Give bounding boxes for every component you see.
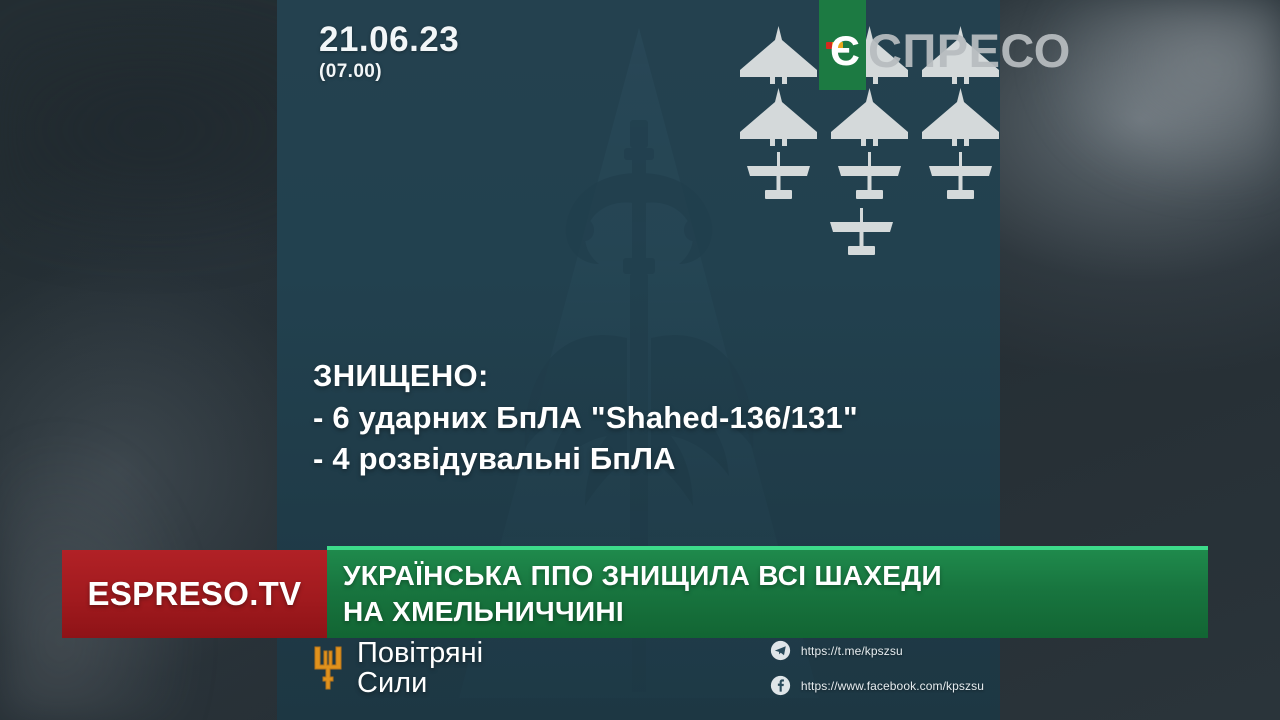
time-value: (07.00) bbox=[319, 61, 459, 83]
station-logo: Є СПРЕСО bbox=[819, 0, 1071, 90]
recon-row-2 bbox=[820, 204, 1000, 260]
screenshot-root: 21.06.23 (07.00) bbox=[0, 0, 1280, 720]
recon-drone-icon bbox=[820, 204, 903, 260]
social-link-facebook[interactable]: https://www.facebook.com/kpszsu bbox=[770, 675, 984, 696]
recon-drone-icon bbox=[737, 148, 820, 204]
air-force-branding: Повітряні Сили bbox=[313, 638, 483, 698]
telegram-icon bbox=[770, 640, 791, 661]
date-block: 21.06.23 (07.00) bbox=[319, 22, 459, 83]
recon-drone-icon bbox=[828, 148, 911, 204]
facebook-url: https://www.facebook.com/kpszsu bbox=[801, 679, 984, 693]
recon-row-1 bbox=[737, 148, 1000, 204]
date-value: 21.06.23 bbox=[319, 22, 459, 57]
social-links: https://t.me/kpszsu https://www.facebook… bbox=[770, 640, 984, 696]
shahed-drone-icon bbox=[828, 86, 911, 148]
headline-line-2: НА ХМЕЛЬНИЧЧИНІ bbox=[343, 594, 1192, 630]
social-link-telegram[interactable]: https://t.me/kpszsu bbox=[770, 640, 984, 661]
shahed-row-2 bbox=[737, 86, 1000, 148]
shahed-drone-icon bbox=[919, 86, 1000, 148]
telegram-url: https://t.me/kpszsu bbox=[801, 644, 903, 658]
logo-letter-ye: Є bbox=[830, 34, 859, 68]
destroyed-item: - 6 ударних БпЛА "Shahed-136/131" bbox=[313, 398, 858, 439]
lower-third: ESPRESO.TV УКРАЇНСЬКА ППО ЗНИЩИЛА ВСІ ША… bbox=[0, 546, 1280, 638]
shahed-drone-icon bbox=[737, 24, 820, 86]
channel-brand-text: ESPRESO.TV bbox=[88, 575, 302, 613]
headline-plate: УКРАЇНСЬКА ППО ЗНИЩИЛА ВСІ ШАХЕДИ НА ХМЕ… bbox=[327, 546, 1208, 638]
destroyed-heading: ЗНИЩЕНО: bbox=[313, 358, 858, 394]
headline-line-1: УКРАЇНСЬКА ППО ЗНИЩИЛА ВСІ ШАХЕДИ bbox=[343, 558, 1192, 594]
channel-brand-plate: ESPRESO.TV bbox=[62, 550, 327, 638]
espreso-logo-mark: Є bbox=[819, 0, 866, 90]
destroyed-summary: ЗНИЩЕНО: - 6 ударних БпЛА "Shahed-136/13… bbox=[313, 358, 858, 480]
destroyed-item: - 4 розвідувальні БпЛА bbox=[313, 439, 858, 480]
air-force-name: Повітряні Сили bbox=[357, 638, 483, 698]
trident-icon bbox=[313, 645, 343, 691]
shahed-drone-icon bbox=[737, 86, 820, 148]
air-force-name-line1: Повітряні bbox=[357, 638, 483, 668]
air-force-name-line2: Сили bbox=[357, 668, 483, 698]
recon-drone-icon bbox=[919, 148, 1000, 204]
facebook-icon bbox=[770, 675, 791, 696]
logo-wordmark: СПРЕСО bbox=[868, 27, 1071, 74]
